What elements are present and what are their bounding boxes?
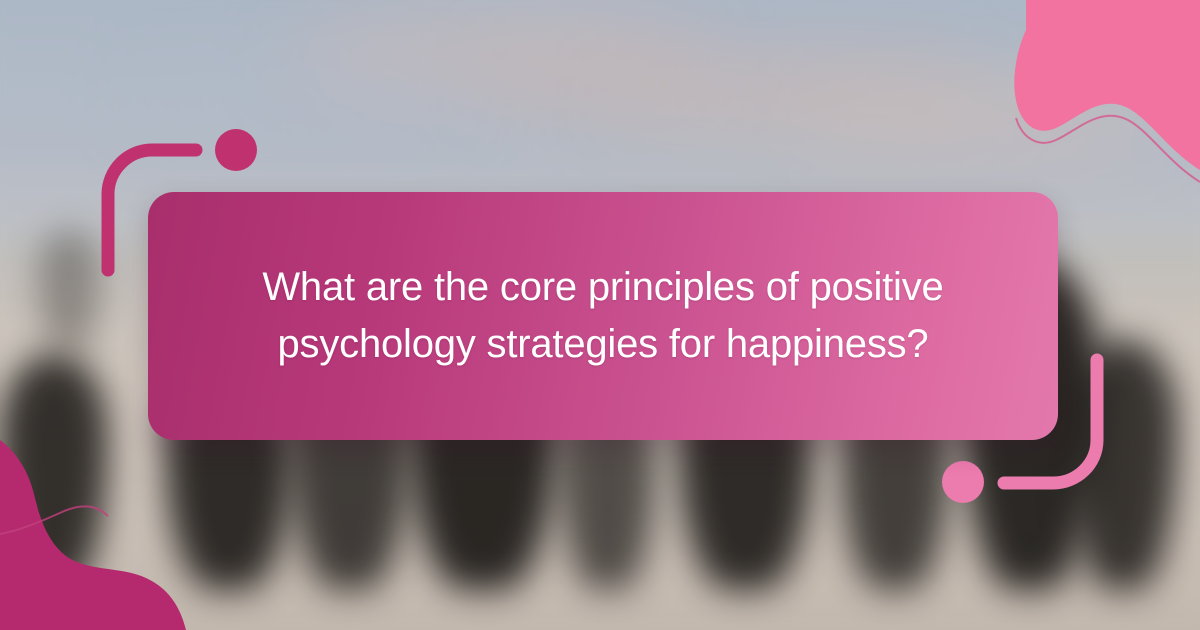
social-card-canvas: What are the core principles of positive… [0,0,1200,630]
question-card: What are the core principles of positive… [148,192,1058,440]
question-text: What are the core principles of positive… [223,259,983,373]
